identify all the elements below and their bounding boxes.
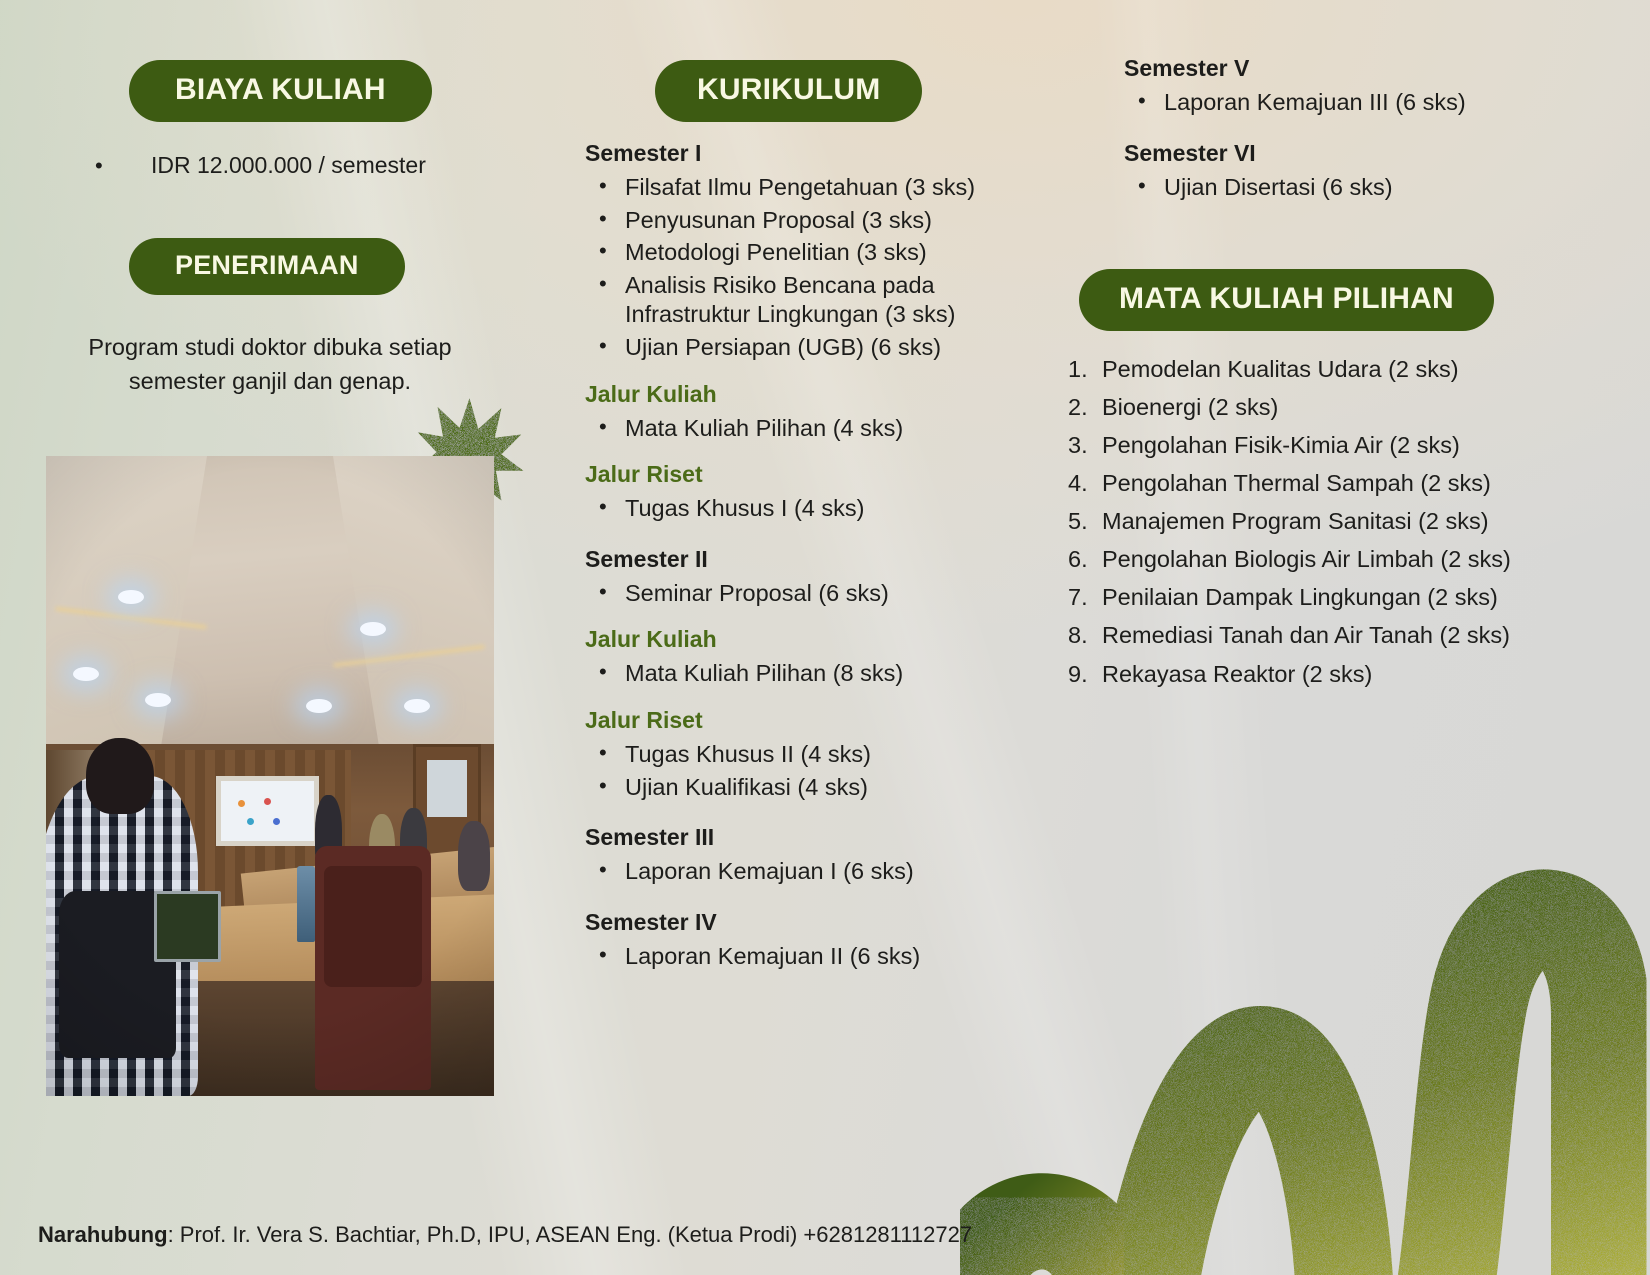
semester-v-vi-content: Semester VLaporan Kemajuan III (6 sks)Se… <box>1124 55 1594 205</box>
list-item-label: Pengolahan Biologis Air Limbah (2 sks) <box>1102 546 1511 572</box>
semester-heading: Semester VI <box>1124 140 1594 167</box>
list-item-number: 6. <box>1068 540 1088 578</box>
list-item-label: Penilaian Dampak Lingkungan (2 sks) <box>1102 584 1498 610</box>
penerimaan-description: Program studi doktor dibuka setiap semes… <box>60 330 480 398</box>
list-item: Penyusunan Proposal (3 sks) <box>593 206 1015 236</box>
list-item: Mata Kuliah Pilihan (8 sks) <box>593 659 1015 689</box>
jalur-subheading: Jalur Kuliah <box>585 381 1015 408</box>
semester-heading: Semester II <box>585 546 1015 573</box>
course-list: Seminar Proposal (6 sks) <box>593 579 1015 609</box>
list-item-label: Pengolahan Fisik-Kimia Air (2 sks) <box>1102 432 1460 458</box>
pill-heading-penerimaan: PENERIMAAN <box>129 238 405 295</box>
list-item: 4.Pengolahan Thermal Sampah (2 sks) <box>1068 464 1628 502</box>
course-list: Tugas Khusus I (4 sks) <box>593 494 1015 524</box>
list-item-number: 9. <box>1068 655 1088 693</box>
list-item: Tugas Khusus II (4 sks) <box>593 740 1015 770</box>
list-item: 6.Pengolahan Biologis Air Limbah (2 sks) <box>1068 540 1628 578</box>
list-item: Laporan Kemajuan I (6 sks) <box>593 857 1015 887</box>
list-item: 1.Pemodelan Kualitas Udara (2 sks) <box>1068 350 1628 388</box>
list-item-label: Pemodelan Kualitas Udara (2 sks) <box>1102 356 1459 382</box>
list-item-number: 7. <box>1068 578 1088 616</box>
course-list: Laporan Kemajuan III (6 sks) <box>1132 88 1594 118</box>
list-item-number: 5. <box>1068 502 1088 540</box>
list-item-number: 2. <box>1068 388 1088 426</box>
list-item-label: Bioenergi (2 sks) <box>1102 394 1278 420</box>
jalur-subheading: Jalur Riset <box>585 707 1015 734</box>
course-list: Laporan Kemajuan I (6 sks) <box>593 857 1015 887</box>
pill-heading-kurikulum: KURIKULUM <box>655 60 922 122</box>
kurikulum-content: Semester IFilsafat Ilmu Pengetahuan (3 s… <box>585 140 1015 975</box>
meeting-room-photo <box>46 456 494 1096</box>
mata-kuliah-pilihan-list: 1.Pemodelan Kualitas Udara (2 sks)2.Bioe… <box>1068 350 1628 693</box>
list-item-number: 1. <box>1068 350 1088 388</box>
list-item: Seminar Proposal (6 sks) <box>593 579 1015 609</box>
semester-heading: Semester I <box>585 140 1015 167</box>
list-item-label: Rekayasa Reaktor (2 sks) <box>1102 661 1372 687</box>
semester-heading: Semester V <box>1124 55 1594 82</box>
contact-label: Narahubung <box>38 1222 168 1247</box>
list-item: Laporan Kemajuan II (6 sks) <box>593 942 1015 972</box>
biaya-kuliah-list: • IDR 12.000.000 / semester <box>95 152 515 179</box>
pill-heading-biaya-kuliah: BIAYA KULIAH <box>129 60 432 122</box>
list-item: • IDR 12.000.000 / semester <box>95 152 515 179</box>
list-item: 2.Bioenergi (2 sks) <box>1068 388 1628 426</box>
jalur-subheading: Jalur Riset <box>585 461 1015 488</box>
bullet-icon: • <box>95 155 151 177</box>
list-item: Ujian Disertasi (6 sks) <box>1132 173 1594 203</box>
jalur-subheading: Jalur Kuliah <box>585 626 1015 653</box>
list-item: Ujian Kualifikasi (4 sks) <box>593 773 1015 803</box>
list-item: Laporan Kemajuan III (6 sks) <box>1132 88 1594 118</box>
pill-heading-mata-kuliah-pilihan: MATA KULIAH PILIHAN <box>1079 269 1494 331</box>
list-item: 9.Rekayasa Reaktor (2 sks) <box>1068 655 1628 693</box>
course-list: Mata Kuliah Pilihan (8 sks) <box>593 659 1015 689</box>
list-item: Filsafat Ilmu Pengetahuan (3 sks) <box>593 173 1015 203</box>
contact-value: : Prof. Ir. Vera S. Bachtiar, Ph.D, IPU,… <box>168 1222 972 1247</box>
list-item-label: Manajemen Program Sanitasi (2 sks) <box>1102 508 1489 534</box>
list-item: 8.Remediasi Tanah dan Air Tanah (2 sks) <box>1068 616 1628 654</box>
course-list: Laporan Kemajuan II (6 sks) <box>593 942 1015 972</box>
course-list: Tugas Khusus II (4 sks)Ujian Kualifikasi… <box>593 740 1015 802</box>
list-item-number: 4. <box>1068 464 1088 502</box>
list-item-label: Remediasi Tanah dan Air Tanah (2 sks) <box>1102 622 1510 648</box>
course-list: Ujian Disertasi (6 sks) <box>1132 173 1594 203</box>
list-item: 3.Pengolahan Fisik-Kimia Air (2 sks) <box>1068 426 1628 464</box>
list-item: Mata Kuliah Pilihan (4 sks) <box>593 414 1015 444</box>
list-item-number: 8. <box>1068 616 1088 654</box>
list-item: 5.Manajemen Program Sanitasi (2 sks) <box>1068 502 1628 540</box>
list-item: Metodologi Penelitian (3 sks) <box>593 238 1015 268</box>
list-item: Analisis Risiko Bencana pada Infrastrukt… <box>593 271 1015 330</box>
contact-footer: Narahubung: Prof. Ir. Vera S. Bachtiar, … <box>38 1222 972 1248</box>
photo-vignette <box>46 456 494 1096</box>
list-item: 7.Penilaian Dampak Lingkungan (2 sks) <box>1068 578 1628 616</box>
list-item-label: Pengolahan Thermal Sampah (2 sks) <box>1102 470 1491 496</box>
course-list: Filsafat Ilmu Pengetahuan (3 sks)Penyusu… <box>593 173 1015 363</box>
biaya-item-label: IDR 12.000.000 / semester <box>151 152 426 179</box>
list-item: Ujian Persiapan (UGB) (6 sks) <box>593 333 1015 363</box>
semester-heading: Semester III <box>585 824 1015 851</box>
semester-heading: Semester IV <box>585 909 1015 936</box>
list-item-number: 3. <box>1068 426 1088 464</box>
course-list: Mata Kuliah Pilihan (4 sks) <box>593 414 1015 444</box>
list-item: Tugas Khusus I (4 sks) <box>593 494 1015 524</box>
